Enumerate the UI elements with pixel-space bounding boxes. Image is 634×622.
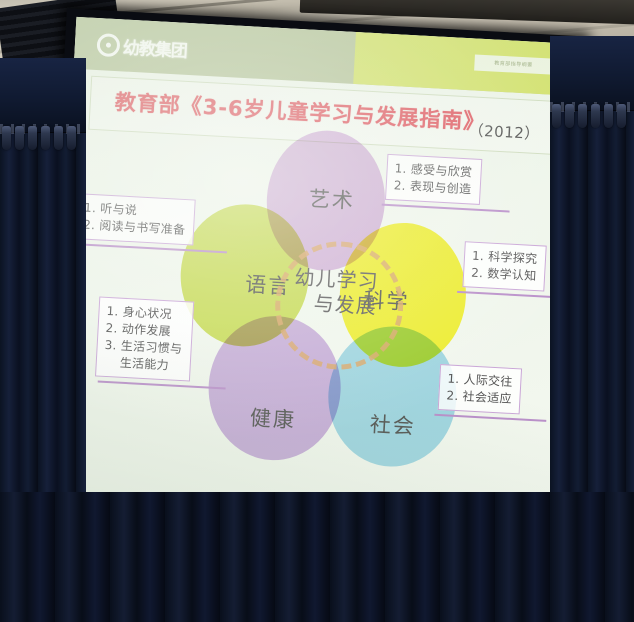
- callout-health: 1. 身心状况 2. 动作发展 3. 生活习惯与 生活能力: [95, 297, 194, 382]
- petal-label-society: 社会: [369, 408, 417, 440]
- tassel-icon: [54, 126, 63, 150]
- curtain-left-valance: [0, 58, 86, 133]
- tassel-icon: [591, 104, 600, 128]
- photo-scene: 教育部指导纲要 幼教集团 教育部《3-6岁儿童学习与发展指南》 （2012） 艺…: [0, 0, 634, 622]
- tassel-icon: [41, 126, 50, 150]
- callout-art: 1. 感受与欣赏 2. 表现与创造: [385, 154, 482, 205]
- tassel-icon: [565, 104, 574, 128]
- tassel-icon: [28, 126, 37, 150]
- curtain-right-tassels: [550, 104, 634, 138]
- flower-diagram: 艺术 语言 科学 健康 社会 幼儿学: [48, 17, 575, 563]
- callout-science-line-2: 2. 数学认知: [471, 265, 537, 286]
- screen-surface: 教育部指导纲要 幼教集团 教育部《3-6岁儿童学习与发展指南》 （2012） 艺…: [48, 17, 575, 563]
- callout-art-line-2: 2. 表现与创造: [393, 177, 471, 198]
- center-line-1: 幼儿学习: [294, 265, 379, 294]
- curtain-left-tassels: [0, 126, 86, 160]
- tassel-icon: [2, 126, 11, 150]
- slide: 教育部指导纲要 幼教集团 教育部《3-6岁儿童学习与发展指南》 （2012） 艺…: [48, 17, 575, 563]
- callout-health-underline: [98, 381, 226, 390]
- callout-society-line-2: 2. 社会适应: [446, 387, 512, 408]
- tassel-icon: [578, 104, 587, 128]
- petal-label-art: 艺术: [308, 183, 356, 215]
- petal-label-health: 健康: [249, 402, 297, 434]
- callout-society: 1. 人际交往 2. 社会适应: [438, 364, 523, 414]
- center-label: 幼儿学习 与发展: [269, 264, 404, 321]
- tassel-icon: [604, 104, 613, 128]
- tassel-icon: [67, 126, 76, 150]
- tassel-icon: [15, 126, 24, 150]
- curtain-right-valance: [550, 36, 634, 111]
- callout-art-underline: [382, 204, 510, 213]
- tassel-icon: [617, 104, 626, 128]
- callout-language: 1. 听与说 2. 阅读与书写准备: [74, 193, 196, 245]
- tassel-icon: [552, 104, 561, 128]
- projection-screen: 教育部指导纲要 幼教集团 教育部《3-6岁儿童学习与发展指南》 （2012） 艺…: [48, 17, 575, 563]
- curtain-bottom: [0, 492, 634, 622]
- callout-science: 1. 科学探究 2. 数学认知: [462, 241, 547, 291]
